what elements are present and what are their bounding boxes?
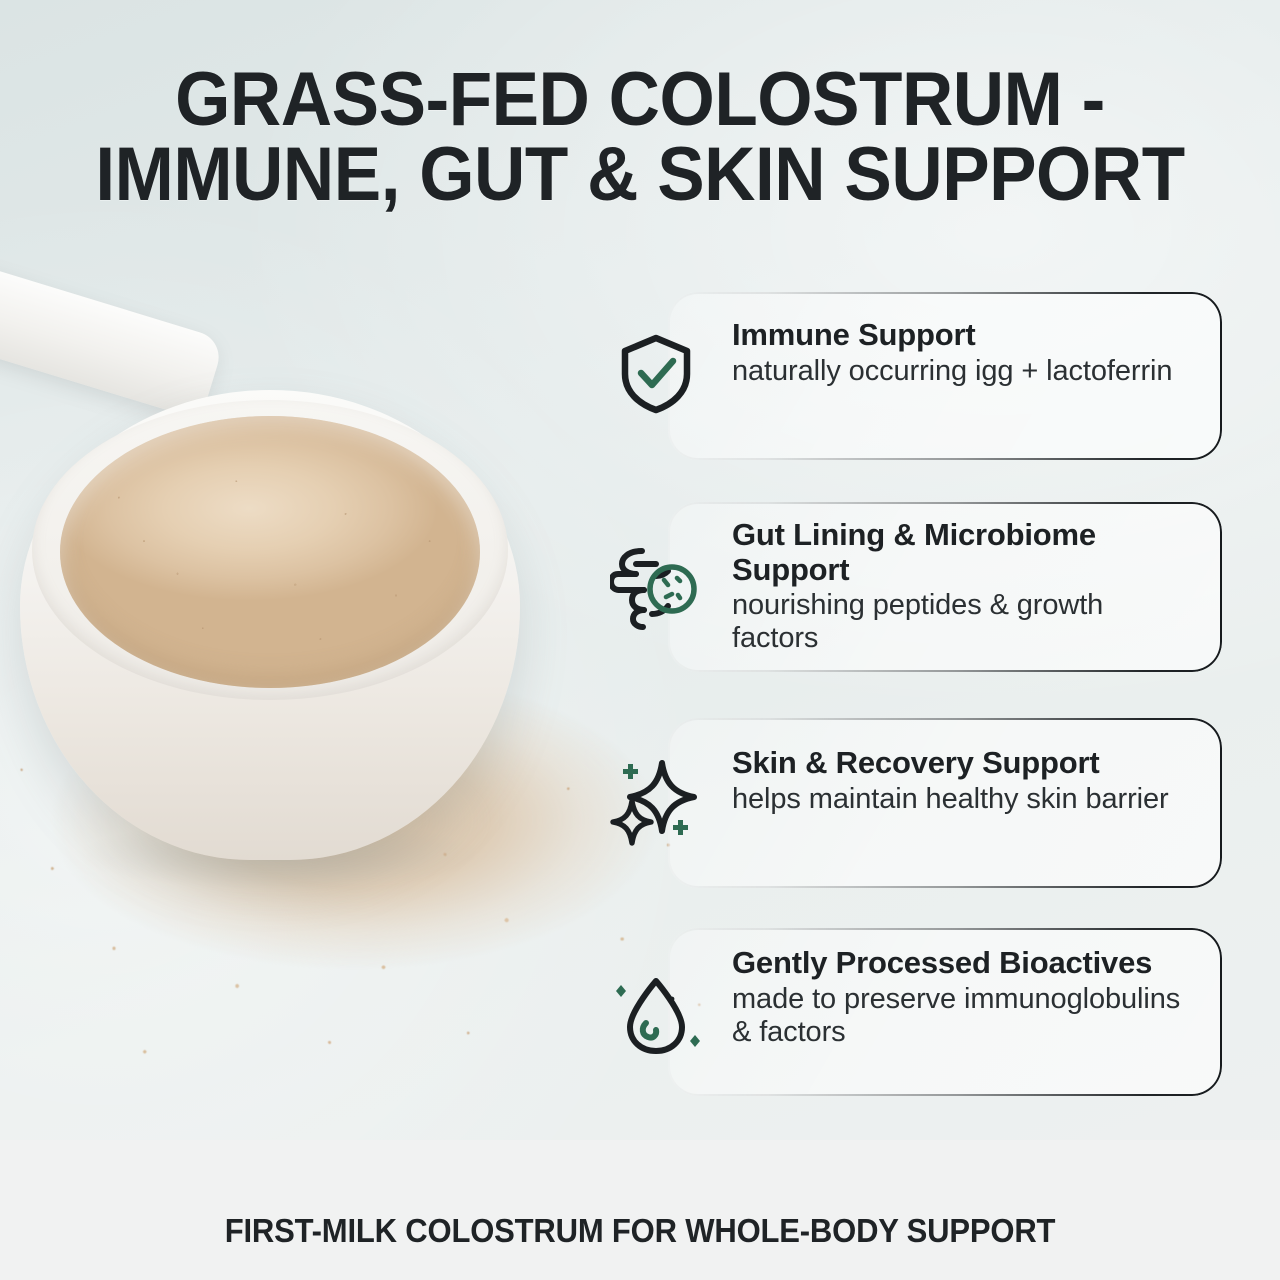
page-title-line-1: GRASS-FED COLOSTRUM - [175,57,1105,142]
page-title-line-2: IMMUNE, GUT & SKIN SUPPORT [42,137,1239,212]
feature-card-gut-lining-microbiome-support[interactable]: Gut Lining & Microbiome Support nourishi… [668,502,1222,672]
card-description: made to preserve immunoglobulins & facto… [732,983,1196,1049]
scoop-handle [0,244,225,421]
feature-card-gently-processed-bioactives[interactable]: Gently Processed Bioactives made to pres… [668,928,1222,1096]
card-title: Gut Lining & Microbiome Support [732,518,1196,587]
card-title: Immune Support [732,318,1196,353]
card-description: nourishing peptides & growth factors [732,589,1196,655]
feature-card-immune-support[interactable]: Immune Support naturally occurring igg +… [668,292,1222,460]
card-text-block: Gently Processed Bioactives made to pres… [732,946,1196,1049]
card-title: Skin & Recovery Support [732,746,1196,781]
card-title: Gently Processed Bioactives [732,946,1196,981]
scoop-powder-fill [60,416,480,688]
sparkle-stars-icon [608,754,704,850]
card-description: naturally occurring igg + lactoferrin [732,355,1196,388]
infographic-canvas: GRASS-FED COLOSTRUM - IMMUNE, GUT & SKIN… [0,0,1280,1280]
droplet-icon [608,968,704,1064]
card-text-block: Immune Support naturally occurring igg +… [732,318,1196,388]
card-text-block: Skin & Recovery Support helps maintain h… [732,746,1196,816]
page-title: GRASS-FED COLOSTRUM - IMMUNE, GUT & SKIN… [42,62,1239,212]
card-description: helps maintain healthy skin barrier [732,783,1196,816]
footer-strip [0,1140,1280,1280]
card-text-block: Gut Lining & Microbiome Support nourishi… [732,518,1196,656]
footer-caption: FIRST-MILK COLOSTRUM FOR WHOLE-BODY SUPP… [38,1212,1241,1250]
intestine-microbiome-icon [608,540,704,636]
shield-check-icon [608,326,704,422]
feature-card-skin-recovery-support[interactable]: Skin & Recovery Support helps maintain h… [668,718,1222,888]
